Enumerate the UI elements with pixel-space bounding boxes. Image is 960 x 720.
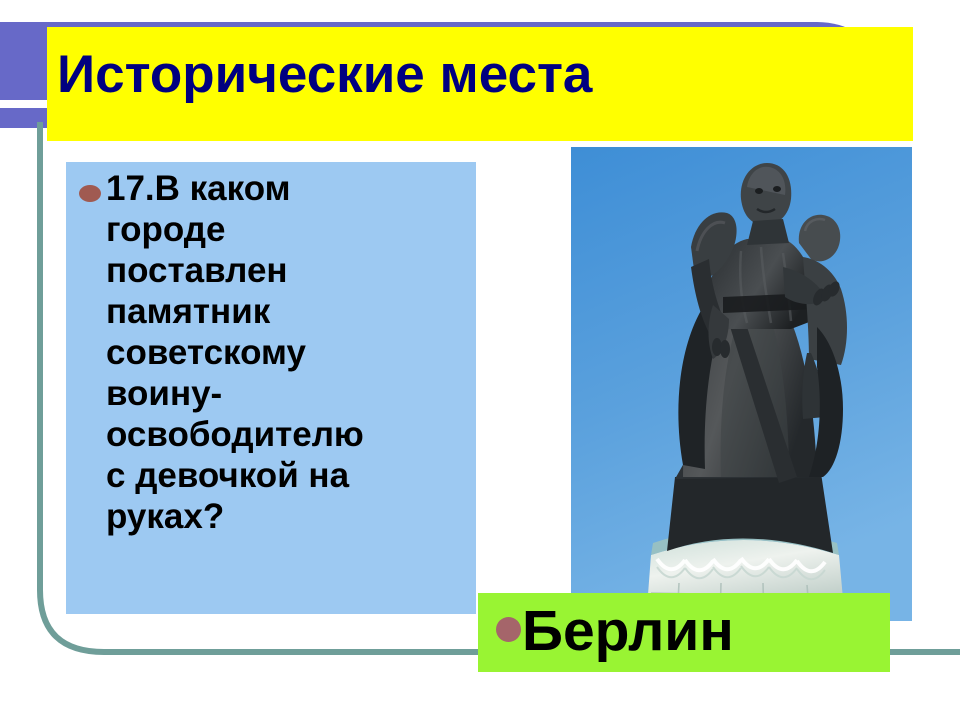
answer-text: Берлин bbox=[522, 599, 734, 665]
question-text: 17.В каком городе поставлен памятник сов… bbox=[106, 169, 374, 537]
monument-photo bbox=[571, 147, 912, 621]
round-bullet-icon bbox=[79, 185, 101, 202]
page-title: Исторические места bbox=[57, 48, 592, 101]
round-bullet-icon bbox=[496, 617, 521, 642]
slide-canvas: Исторические места 17.В каком городе пос… bbox=[0, 0, 960, 720]
